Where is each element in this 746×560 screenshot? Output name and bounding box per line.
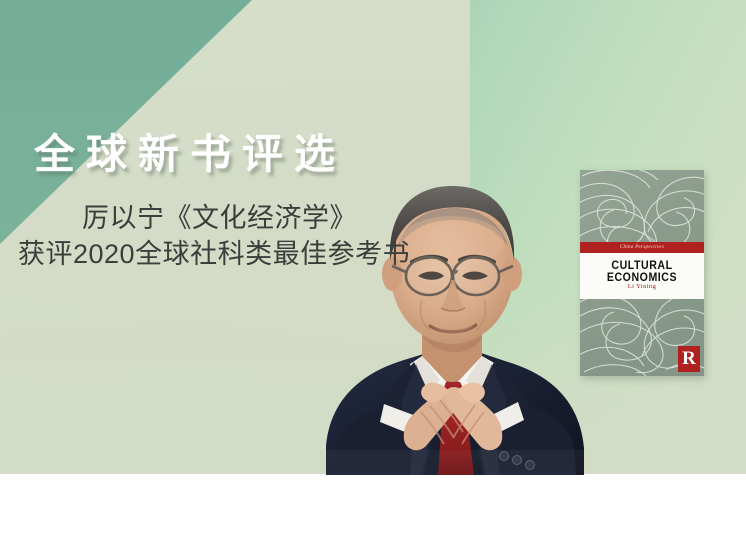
book-series-label: China Perspectives (580, 242, 704, 253)
background-white-strip (0, 474, 746, 560)
book-title-text: CULTURAL ECONOMICS (585, 260, 699, 284)
portrait-photo (318, 150, 590, 475)
subtitle-award: 获评2020全球社科类最佳参考书 (18, 232, 410, 271)
subtitle-book: 厉以宁《文化经济学》 (82, 196, 357, 235)
promo-banner: 全球新书评选 厉以宁《文化经济学》 获评2020全球社科类最佳参考书 (0, 0, 746, 560)
book-cover: China Perspectives CULTURAL ECONOMICS Li… (580, 170, 704, 376)
book-author-text: Li Yining (580, 283, 704, 290)
routledge-logo-icon: R (678, 346, 700, 372)
routledge-logo-letter: R (678, 346, 700, 372)
page-title: 全球新书评选 (34, 134, 346, 175)
